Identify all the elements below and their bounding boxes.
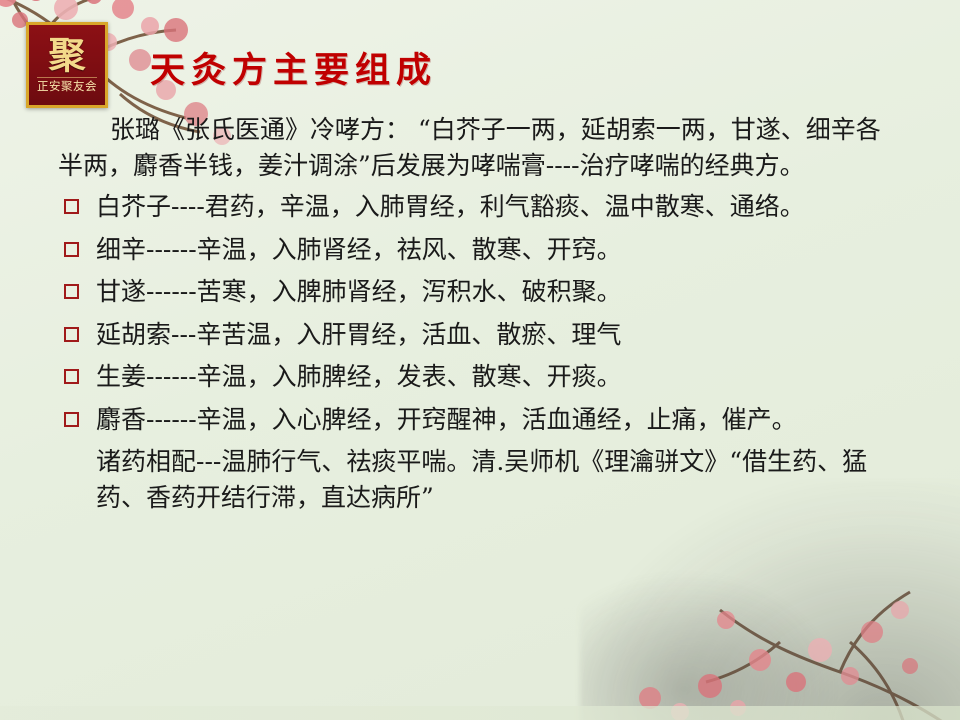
list-item: 细辛------辛温，入肺肾经，祛风、散寒、开窍。 <box>58 232 914 268</box>
square-bullet-icon <box>64 199 79 214</box>
list-item-text: 甘遂------苦寒，入脾肺肾经，泻积水、破积聚。 <box>96 277 622 306</box>
organization-logo: 聚 正安聚友会 <box>26 22 108 108</box>
list-item: 白芥子----君药，辛温，入肺胃经，利气豁痰、温中散寒、通络。 <box>58 189 914 225</box>
square-bullet-icon <box>64 412 79 427</box>
list-item: 延胡索---辛苦温，入肝胃经，活血、散瘀、理气 <box>58 317 914 353</box>
logo-subtitle: 正安聚友会 <box>37 77 97 93</box>
list-item-text: 麝香------辛温，入心脾经，开窍醒神，活血通经，止痛，催产。 <box>96 405 797 434</box>
intro-paragraph: 张璐《张氏医通》冷哮方： “白芥子一两，延胡索一两，甘遂、细辛各半两，麝香半钱，… <box>58 112 914 183</box>
list-item: 麝香------辛温，入心脾经，开窍醒神，活血通经，止痛，催产。 <box>58 402 914 438</box>
closing-paragraph: 诸药相配---温肺行气、祛痰平喘。清.吴师机《理瀹骈文》“借生药、猛药、香药开结… <box>58 444 914 515</box>
square-bullet-icon <box>64 284 79 299</box>
square-bullet-icon <box>64 242 79 257</box>
square-bullet-icon <box>64 327 79 342</box>
footer-strip <box>0 706 960 720</box>
slide-title: 天灸方主要组成 <box>150 42 437 93</box>
list-item-text: 细辛------辛温，入肺肾经，祛风、散寒、开窍。 <box>96 235 622 264</box>
logo-main-character: 聚 <box>49 37 86 74</box>
slide-canvas: 聚 正安聚友会 天灸方主要组成 张璐《张氏医通》冷哮方： “白芥子一两，延胡索一… <box>0 0 960 720</box>
square-bullet-icon <box>64 369 79 384</box>
list-item: 甘遂------苦寒，入脾肺肾经，泻积水、破积聚。 <box>58 274 914 310</box>
list-item-text: 白芥子----君药，辛温，入肺胃经，利气豁痰、温中散寒、通络。 <box>96 192 805 221</box>
slide-body: 张璐《张氏医通》冷哮方： “白芥子一两，延胡索一两，甘遂、细辛各半两，麝香半钱，… <box>58 112 914 515</box>
list-item: 生姜------辛温，入肺脾经，发表、散寒、开痰。 <box>58 359 914 395</box>
list-item-text: 延胡索---辛苦温，入肝胃经，活血、散瘀、理气 <box>96 320 621 349</box>
list-item-text: 生姜------辛温，入肺脾经，发表、散寒、开痰。 <box>96 362 622 391</box>
ingredient-list: 白芥子----君药，辛温，入肺胃经，利气豁痰、温中散寒、通络。 细辛------… <box>58 189 914 437</box>
